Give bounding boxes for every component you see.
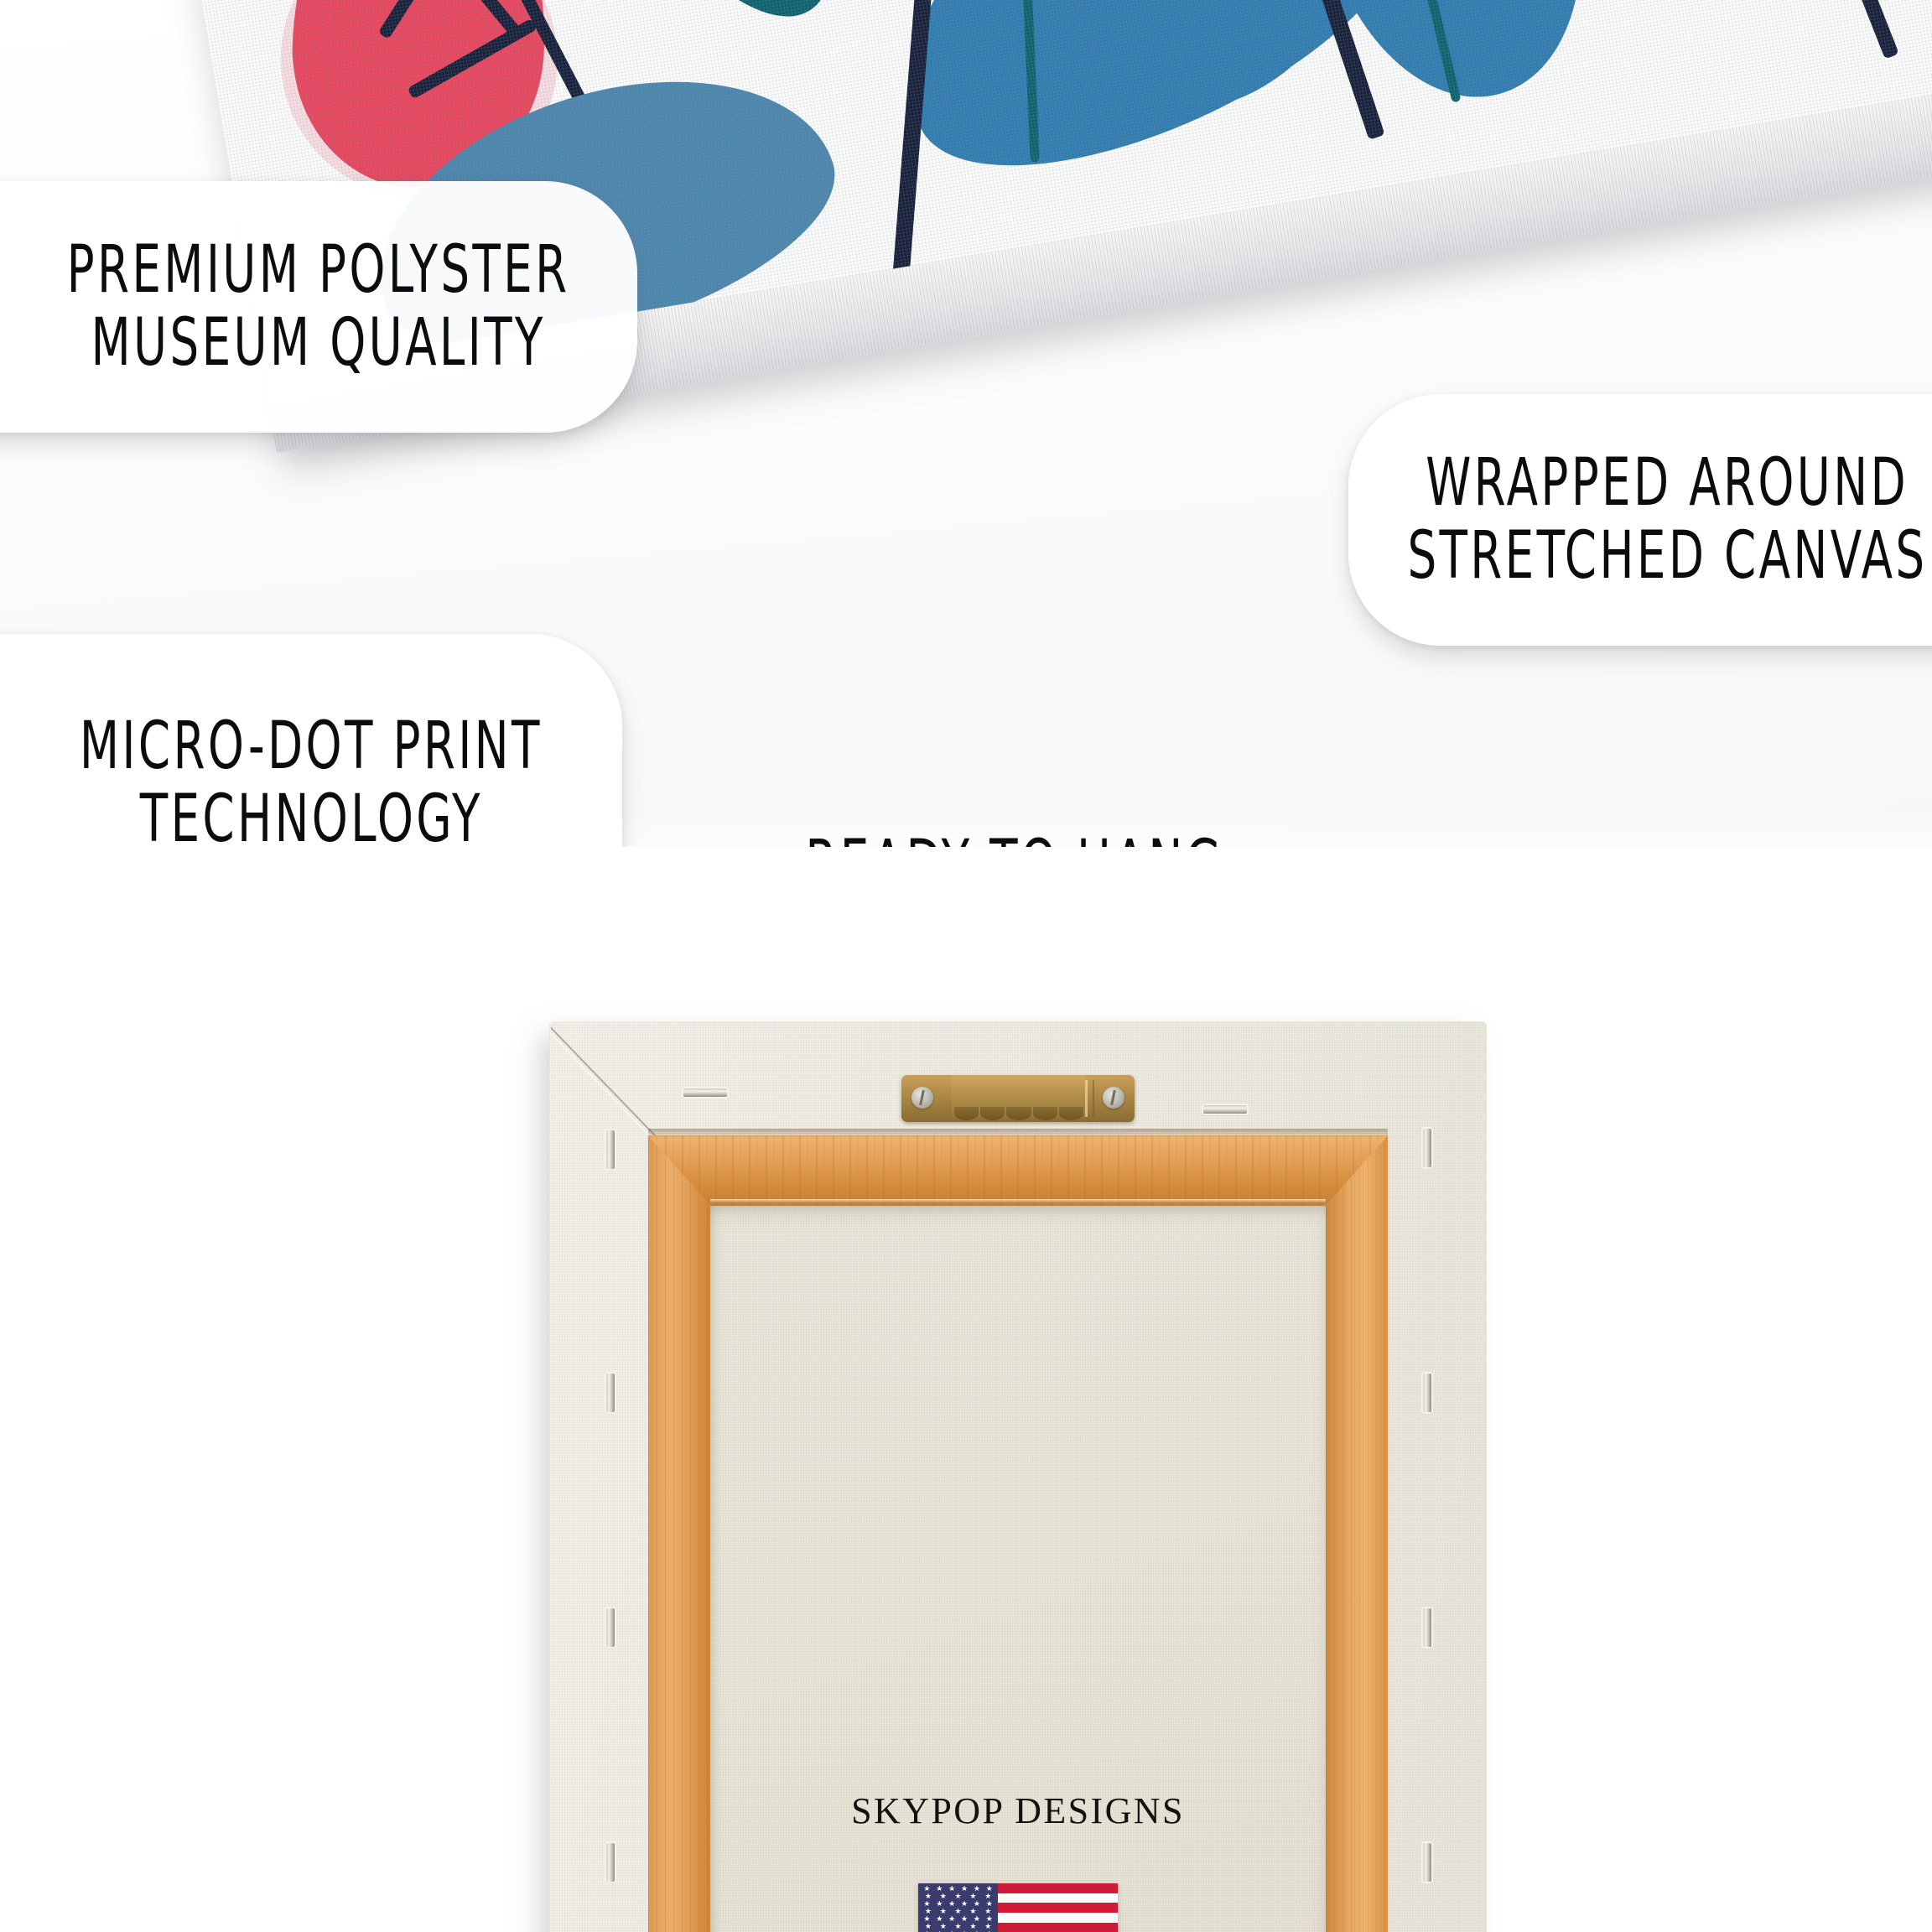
- stretcher-bar-right: [1326, 1135, 1388, 1932]
- staple: [606, 1843, 615, 1882]
- feature-badge-wrapped-line2: STRETCHED CANVAS: [1407, 520, 1927, 593]
- staple: [683, 1088, 727, 1097]
- canvas-back-photo: SKYPOP DESIGNS ★★★★★★ ★★★★★ ★: [0, 847, 1932, 1932]
- stretcher-bar-top-shadow: [648, 1129, 1388, 1139]
- staple: [1423, 1129, 1431, 1167]
- canvas-back-panel: SKYPOP DESIGNS ★★★★★★ ★★★★★ ★: [549, 1021, 1487, 1932]
- hanger-tooth: [1059, 1107, 1083, 1120]
- hanger-tooth: [980, 1107, 1005, 1120]
- staple: [606, 1374, 615, 1412]
- stretcher-bar-left: [648, 1135, 710, 1932]
- hanger-tooth: [1006, 1107, 1031, 1120]
- brand-name: SKYPOP DESIGNS: [710, 1789, 1326, 1832]
- wooden-stretcher-frame: SKYPOP DESIGNS ★★★★★★ ★★★★★ ★: [648, 1135, 1388, 1932]
- hanger-groove-dark: [1093, 1080, 1094, 1117]
- canvas-back-inner-surface: SKYPOP DESIGNS ★★★★★★ ★★★★★ ★: [710, 1206, 1326, 1932]
- art-line-navy-stem-3: [1651, 0, 1898, 60]
- feature-badge-premium-polyster: PREMIUM POLYSTER MUSEUM QUALITY: [0, 181, 637, 433]
- feature-badge-wrapped-line1: WRAPPED AROUND: [1426, 447, 1909, 520]
- sawtooth-hanger: [901, 1075, 1135, 1122]
- staple: [1423, 1608, 1431, 1647]
- staple: [1203, 1105, 1247, 1114]
- staple: [1423, 1374, 1431, 1412]
- staple: [606, 1130, 615, 1169]
- flag-stars: ★★★★★★ ★★★★★ ★★★★★★ ★★★★★ ★★★★★★ ★★★★★ ★…: [918, 1883, 998, 1932]
- stretcher-bar-highlight: [710, 1199, 1326, 1203]
- infographic-stage: PREMIUM POLYSTER MUSEUM QUALITY WRAPPED …: [0, 0, 1932, 1932]
- stretcher-bar-top: [648, 1135, 1388, 1206]
- hanger-screw-left: [911, 1087, 933, 1109]
- feature-badge-micro-line1: MICRO-DOT PRINT: [80, 710, 543, 783]
- feature-badge-micro-line2: TECHNOLOGY: [139, 783, 482, 856]
- feature-badge-premium-line1: PREMIUM POLYSTER: [67, 234, 570, 307]
- hanger-tooth-row: [953, 1107, 1084, 1120]
- feature-badge-premium-line2: MUSEUM QUALITY: [91, 307, 546, 380]
- staple: [606, 1608, 615, 1647]
- united-states-flag-icon: ★★★★★★ ★★★★★ ★★★★★★ ★★★★★ ★★★★★★ ★★★★★ ★…: [918, 1883, 1118, 1932]
- art-shape-teal-slab: [550, 0, 885, 56]
- hanger-tooth: [954, 1107, 979, 1120]
- staple: [1423, 1843, 1431, 1882]
- feature-badge-wrapped-around: WRAPPED AROUND STRETCHED CANVAS: [1348, 394, 1932, 646]
- hanger-groove-light: [1085, 1080, 1088, 1117]
- hanger-screw-right: [1103, 1087, 1124, 1109]
- hanger-tooth: [1033, 1107, 1057, 1120]
